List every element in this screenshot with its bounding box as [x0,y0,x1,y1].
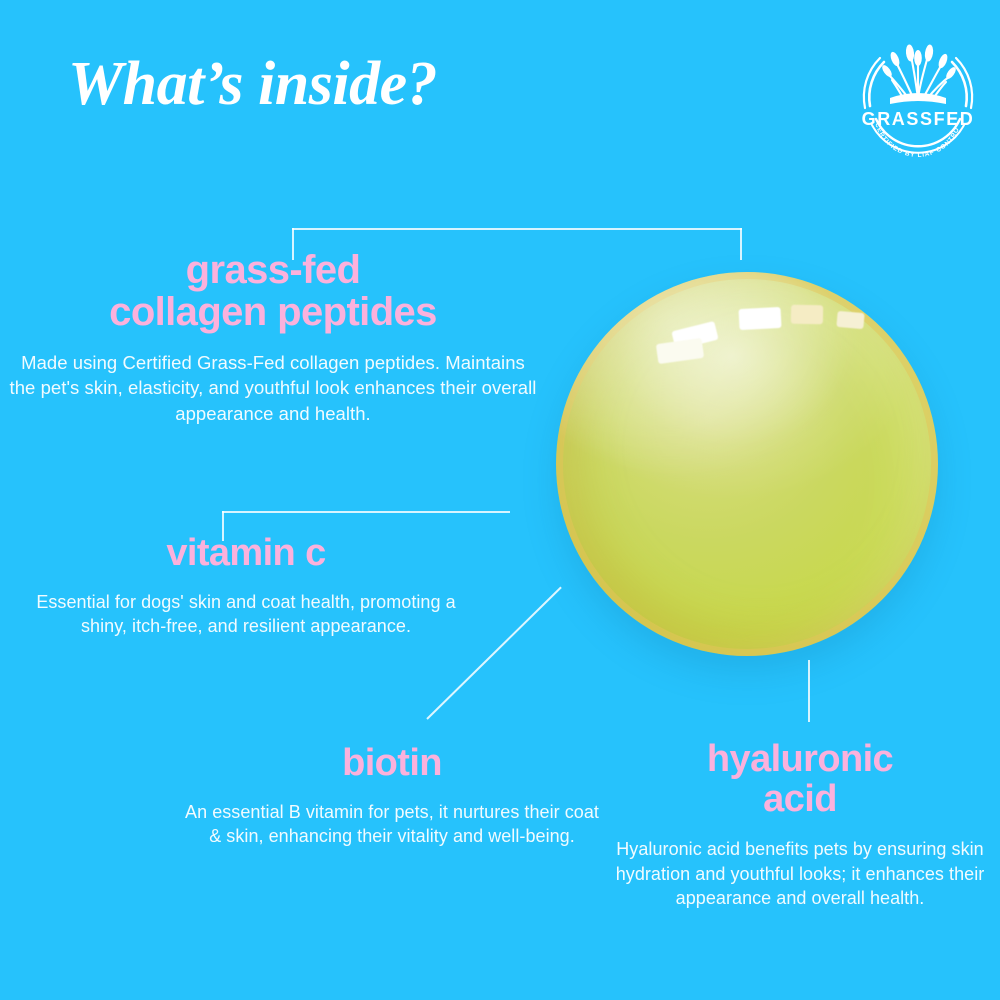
badge-wordmark: GRASSFED [854,110,982,128]
ingredient-biotin-title: biotin [180,744,604,784]
page-title: What’s inside? [68,52,437,117]
ingredient-vitamin-c-body: Essential for dogs' skin and coat health… [32,590,460,639]
connector-collagen-right-drop [740,228,742,260]
sphere-highlight-2 [656,338,704,364]
connector-collagen-horizontal [292,228,742,230]
ingredient-collagen: grass-fed collagen peptides Made using C… [6,250,540,426]
sphere-sheen [556,272,862,479]
ingredient-vitamin-c: vitamin c Essential for dogs' skin and c… [32,534,460,638]
ingredient-hyaluronic-acid: hyaluronic acid Hyaluronic acid benefits… [604,740,996,910]
sphere-rim [556,272,938,656]
sphere-highlight-4 [791,304,824,324]
sphere-highlight-3 [739,307,782,330]
grassfed-badge: CERTIFIED BY LIAF CONTROL GRASSFED [854,22,982,162]
ingredient-hyaluronic-acid-body: Hyaluronic acid benefits pets by ensurin… [604,837,996,910]
ingredient-collagen-title-line1: grass-fed [6,250,540,292]
grass-wheat-icon: CERTIFIED BY LIAF CONTROL [854,22,982,162]
connector-vitaminc-horizontal [222,511,510,513]
ingredient-collagen-title: grass-fed collagen peptides [6,250,540,333]
ingredient-biotin-body: An essential B vitamin for pets, it nurt… [180,800,604,849]
ingredient-biotin: biotin An essential B vitamin for pets, … [180,744,604,848]
ingredient-hyaluronic-acid-title-line2: acid [604,780,996,820]
ingredient-collagen-body: Made using Certified Grass-Fed collagen … [6,350,540,425]
infographic-canvas: What’s inside? [0,0,1000,1000]
ingredient-collagen-title-line2: collagen peptides [6,292,540,334]
connector-hyaluronic-vertical [808,660,810,722]
sphere-highlight-5 [836,311,864,329]
gel-droplet-sphere [556,272,938,656]
ingredient-hyaluronic-acid-title: hyaluronic acid [604,740,996,819]
ingredient-hyaluronic-acid-title-line1: hyaluronic [604,740,996,780]
ingredient-vitamin-c-title: vitamin c [32,534,460,574]
sphere-highlight-1 [671,321,718,350]
